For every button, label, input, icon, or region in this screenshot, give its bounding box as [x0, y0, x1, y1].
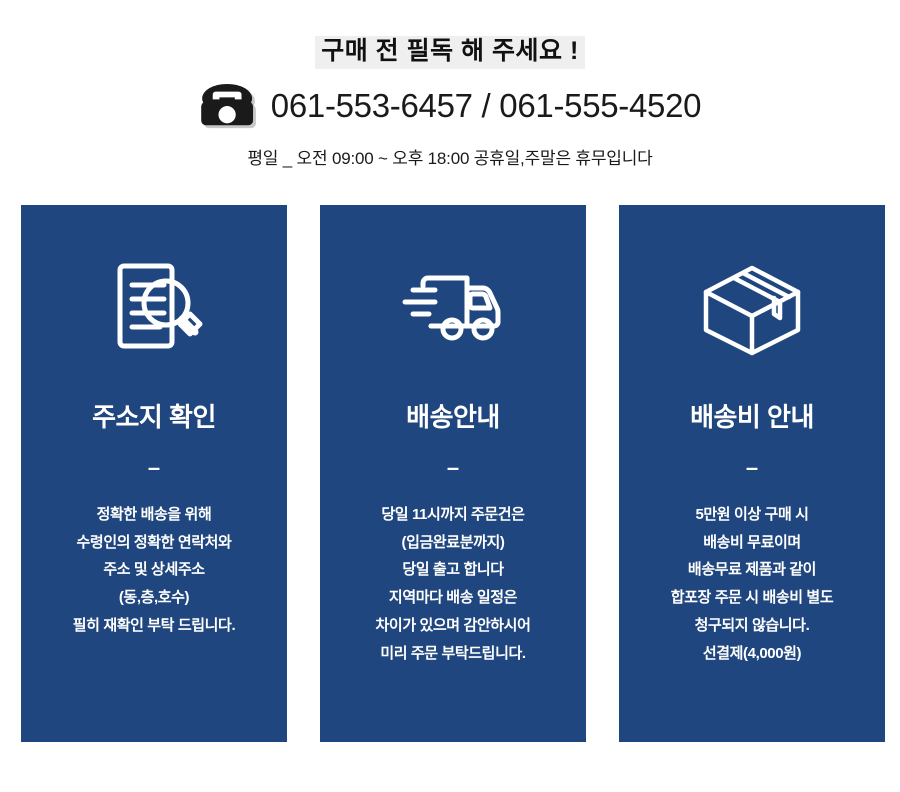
page-title: 구매 전 필독 해 주세요 !	[315, 36, 585, 69]
delivery-truck-icon	[393, 247, 513, 365]
body-line: 수령인의 정확한 연락처와	[73, 529, 235, 557]
document-search-icon	[94, 247, 214, 365]
body-line: 선결제(4,000원)	[671, 640, 833, 668]
body-line: 배송무료 제품과 같이	[671, 556, 833, 584]
business-hours: 평일 _ 오전 09:00 ~ 오후 18:00 공휴일,주말은 휴무입니다	[0, 144, 900, 169]
card-body: 당일 11시까지 주문건은 (입금완료분까지) 당일 출고 합니다 지역마다 배…	[368, 501, 539, 668]
card-divider: –	[447, 457, 459, 479]
body-line: 합포장 주문 시 배송비 별도	[671, 584, 833, 612]
body-line: 미리 주문 부탁드립니다.	[376, 640, 531, 668]
card-body: 5만원 이상 구매 시 배송비 무료이며 배송무료 제품과 같이 합포장 주문 …	[663, 501, 841, 668]
body-line: 필히 재확인 부탁 드립니다.	[73, 612, 235, 640]
card-divider: –	[148, 457, 160, 479]
card-title: 배송비 안내	[690, 403, 814, 433]
info-card-address-check: 주소지 확인 – 정확한 배송을 위해 수령인의 정확한 연락처와 주소 및 상…	[21, 205, 287, 742]
body-line: 배송비 무료이며	[671, 529, 833, 557]
card-title: 배송안내	[406, 403, 500, 433]
body-line: 당일 11시까지 주문건은	[376, 501, 531, 529]
phone-numbers: 061-553-6457 / 061-555-4520	[271, 87, 701, 125]
card-title: 주소지 확인	[92, 403, 216, 433]
body-line: 5만원 이상 구매 시	[671, 501, 833, 529]
body-line: 주소 및 상세주소	[73, 556, 235, 584]
headline-container: 구매 전 필독 해 주세요 !	[0, 0, 900, 69]
body-line: 정확한 배송을 위해	[73, 501, 235, 529]
body-line: 청구되지 않습니다.	[671, 612, 833, 640]
body-line: 차이가 있으며 감안하시어	[376, 612, 531, 640]
body-line: (입금완료분까지)	[376, 529, 531, 557]
info-card-delivery-guide: 배송안내 – 당일 11시까지 주문건은 (입금완료분까지) 당일 출고 합니다…	[320, 205, 586, 742]
body-line: 지역마다 배송 일정은	[376, 584, 531, 612]
package-box-icon	[692, 247, 812, 365]
shipping-notice-page: 구매 전 필독 해 주세요 !	[0, 0, 900, 792]
notice-header: 구매 전 필독 해 주세요 !	[0, 0, 900, 169]
body-line: (동,층,호수)	[73, 584, 235, 612]
info-card-shipping-fee: 배송비 안내 – 5만원 이상 구매 시 배송비 무료이며 배송무료 제품과 같…	[619, 205, 885, 742]
telephone-icon	[199, 83, 261, 131]
info-card-grid: 주소지 확인 – 정확한 배송을 위해 수령인의 정확한 연락처와 주소 및 상…	[21, 205, 885, 742]
card-body: 정확한 배송을 위해 수령인의 정확한 연락처와 주소 및 상세주소 (동,층,…	[65, 501, 243, 640]
body-line: 당일 출고 합니다	[376, 556, 531, 584]
card-divider: –	[746, 457, 758, 479]
contact-row: 061-553-6457 / 061-555-4520	[0, 81, 900, 131]
